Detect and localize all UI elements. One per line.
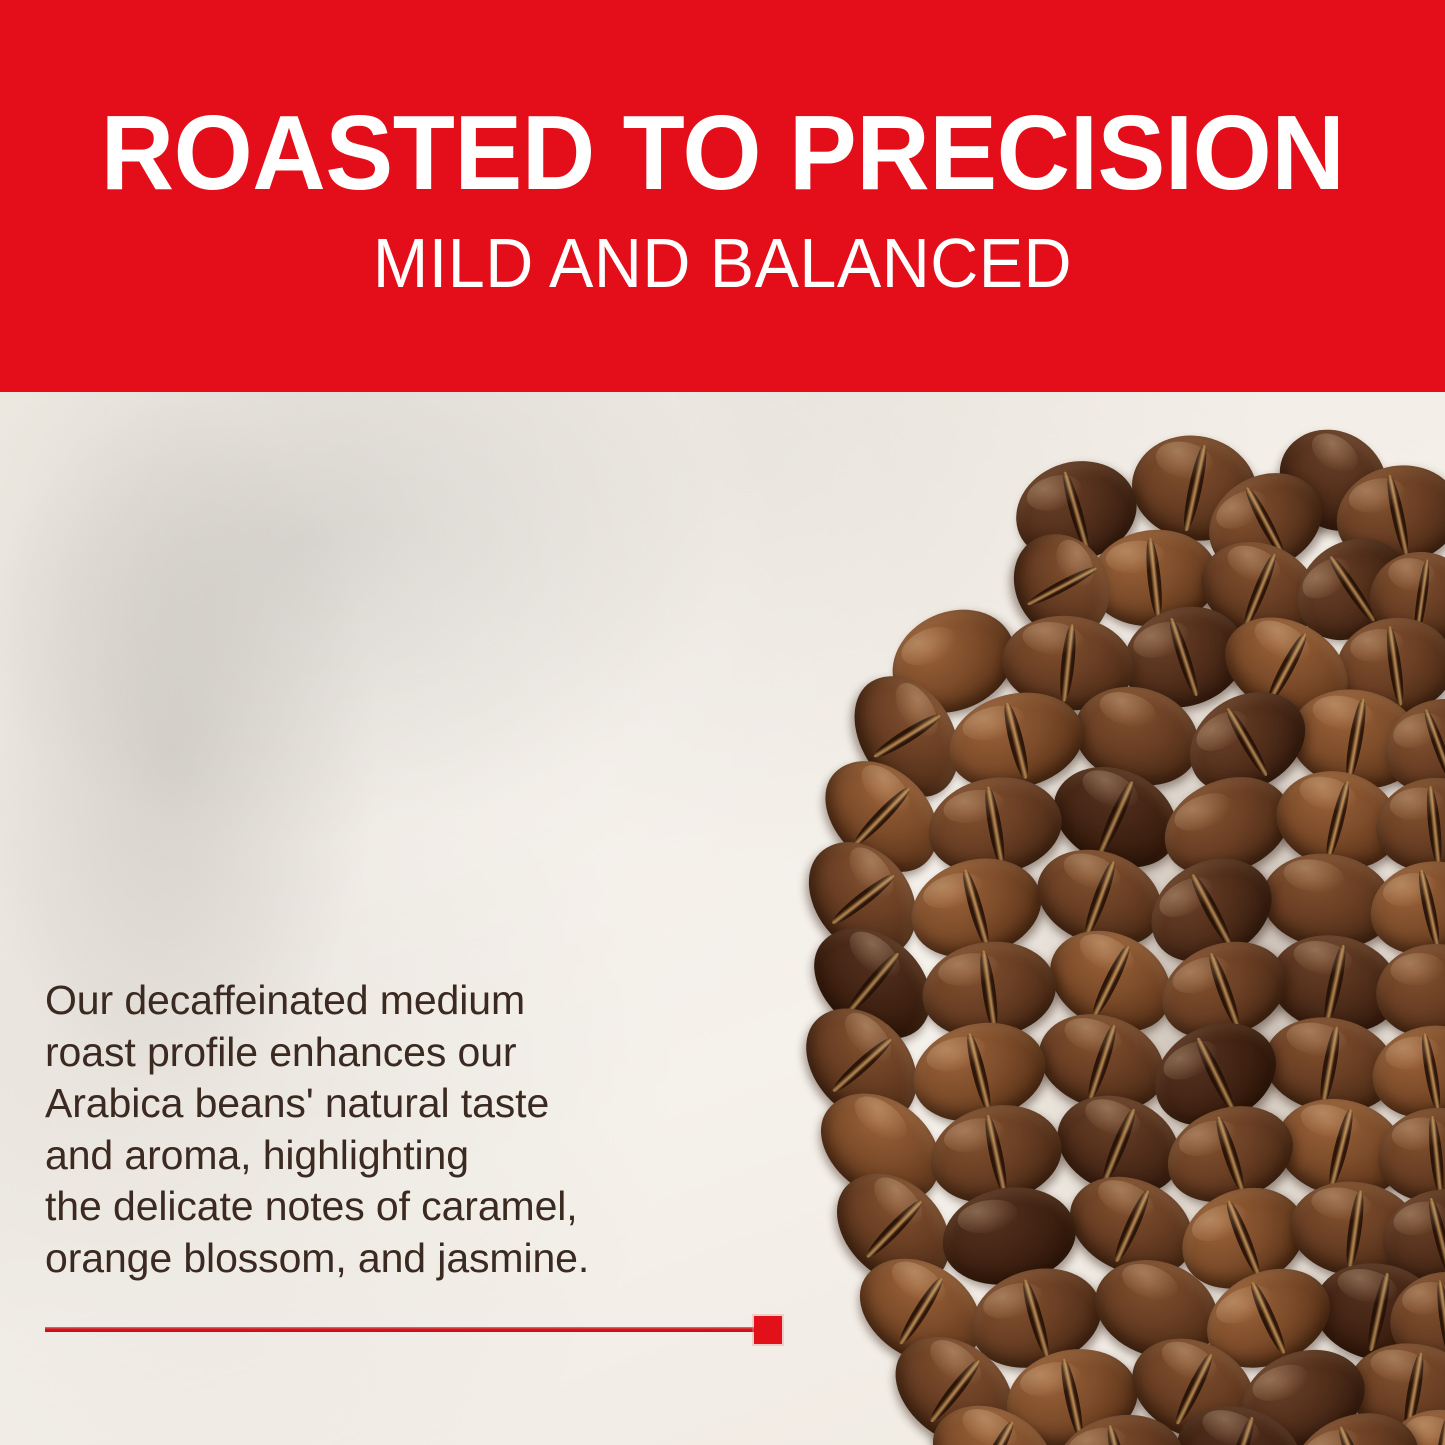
coffee-bean-pile: [770, 432, 1445, 1445]
poster-root: Our decaffeinated medium roast profile e…: [0, 0, 1445, 1445]
page-subtitle: MILD AND BALANCED: [36, 228, 1409, 298]
divider-accent-square: [754, 1316, 782, 1344]
divider: [45, 1316, 775, 1344]
header-band: ROASTED TO PRECISION MILD AND BALANCED: [0, 0, 1445, 392]
divider-line: [45, 1327, 757, 1332]
product-description-paragraph: Our decaffeinated medium roast profile e…: [45, 975, 685, 1284]
page-title: ROASTED TO PRECISION: [29, 100, 1416, 206]
coffee-beans-photo: [0, 392, 1445, 1445]
